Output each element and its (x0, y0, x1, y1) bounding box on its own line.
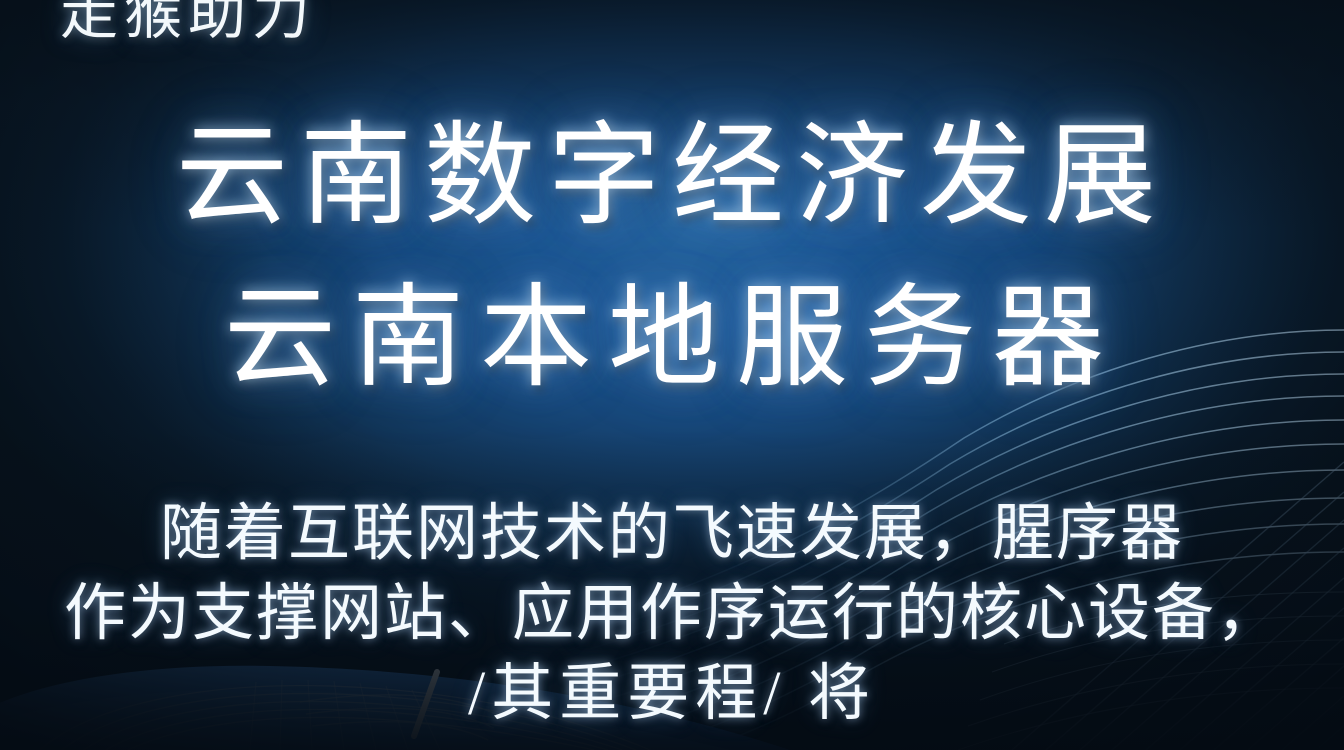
headline-line-1: 云南数字经济发展 (0, 96, 1344, 258)
poster-canvas: 走猴助力 云南数字经济发展 云南本地服务器 随着互联网技术的飞速发展，腥序器 作… (0, 0, 1344, 750)
body-line-2: 作为支撑网站、应用作序运行的核心设备， (0, 574, 1344, 654)
cut-off-top-text: 走猴助力 (0, 0, 1344, 50)
body-line-3: /其重要程/ 将 (0, 654, 1344, 734)
headline-line-2: 云南本地服务器 (0, 258, 1344, 420)
body-line-1: 随着互联网技术的飞速发展，腥序器 (0, 494, 1344, 574)
body-text-group: 随着互联网技术的飞速发展，腥序器 作为支撑网站、应用作序运行的核心设备， /其重… (0, 494, 1344, 734)
headline-group: 云南数字经济发展 云南本地服务器 (0, 96, 1344, 420)
